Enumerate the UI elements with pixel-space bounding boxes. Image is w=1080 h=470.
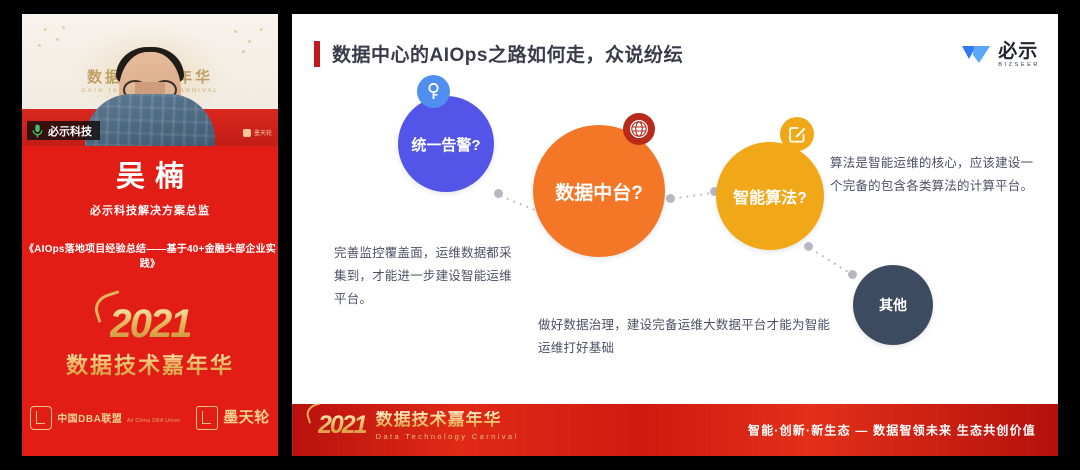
event-bottom-banner: 2021 数据技术嘉年华 Data Technology Carnival 智能… [292,404,1058,456]
confetti-dot [62,26,65,29]
partner-name-cn: 中国DBA联盟 [57,414,122,425]
node-label: 统一告警? [411,134,480,155]
confetti-dot [44,28,47,31]
connector-dot [848,270,857,279]
partner-name-en: All China DBA Union [127,418,180,424]
event-year-logo: 2021 [110,304,191,344]
watermark-badge-icon [243,129,251,137]
globe-icon [628,118,650,140]
confetti-dot [38,44,41,47]
partner-name-cn: 墨天轮 [223,409,270,426]
confetti-dot [56,38,59,41]
confetti-dot [248,40,251,43]
watermark-label: 墨天轮 [254,128,272,137]
connector-dot [804,242,813,251]
caption-data-platform: 做好数据治理，建设完备运维大数据平台才能为智能运维打好基础 [538,314,838,360]
caption-unified-alert: 完善监控覆盖面，运维数据都采集到，才能进一步建设智能运维平台。 [334,242,524,311]
slide-title: 数据中心的AIOps之路如何走，众说纷纭 [332,40,683,67]
event-name: 数据技术嘉年华 [22,348,278,380]
brand-name-en: BIZSEER [998,63,1040,69]
banner-year-logo: 2021 [318,411,366,440]
key-icon-badge [417,75,450,108]
speaker-name: 吴楠 [22,162,278,194]
talk-title: 《AIOps落地项目经验总结——基于40+金融头部企业实践》 [22,240,278,270]
connector-algo-other [807,246,854,276]
edit-square-icon [787,124,807,144]
banner-event-name-en: Data Technology Carnival [376,432,519,441]
node-label: 智能算法? [733,184,807,208]
screen: 数据技术嘉年华 DATA TECHNOLOGY CARNIVAL [0,0,1080,470]
speaker-panel: 数据技术嘉年华 DATA TECHNOLOGY CARNIVAL [22,14,278,456]
video-feed[interactable]: 数据技术嘉年华 DATA TECHNOLOGY CARNIVAL [22,14,278,146]
presentation-slide: 数据中心的AIOps之路如何走，众说纷纭 必示 BIZSEER [292,14,1058,456]
bizseer-checkmark-icon [961,43,991,67]
speaker-title: 必示科技解决方案总监 [22,202,278,218]
banner-slogan: 智能·创新·新生态 — 数据智领未来 生态共创价值 [748,422,1036,439]
node-other[interactable]: 其他 [853,265,933,345]
node-intelligent-algorithm[interactable]: 智能算法? [716,142,824,250]
partner-logo-modb: 墨天轮 [196,406,270,430]
speaker-info: 吴楠 必示科技解决方案总监 《AIOps落地项目经验总结——基于40+金融头部企… [22,146,278,270]
video-watermark: 墨天轮 [243,128,272,137]
connector-dot [666,194,675,203]
partner-logos: 中国DBA联盟 All China DBA Union 墨天轮 [22,406,278,430]
mic-tag-label: 必示科技 [48,123,92,139]
connector-dot [494,189,503,198]
node-data-platform[interactable]: 数据中台? [533,125,665,257]
banner-event-name-cn: 数据技术嘉年华 [376,411,519,430]
dba-union-mark-icon [30,406,52,430]
slide-header: 数据中心的AIOps之路如何走，众说纷纭 [314,40,683,67]
node-label: 数据中台? [555,178,643,205]
brand-name-cn: 必示 [998,42,1040,61]
connector-platform-algo [670,192,714,200]
speaker-body [85,94,215,146]
microphone-icon [32,124,43,138]
mic-name-tag[interactable]: 必示科技 [27,121,100,140]
confetti-dot [242,50,245,53]
globe-icon-badge [623,113,655,145]
confetti-dot [260,28,263,31]
key-icon [426,83,441,100]
confetti-dot [234,30,237,33]
modb-mark-icon [196,406,218,430]
node-unified-alert[interactable]: 统一告警? [398,96,494,192]
aiops-path-diagram: 统一告警? 数据中台? 智 [292,74,1058,404]
partner-logo-dba-union: 中国DBA联盟 All China DBA Union [30,406,180,430]
brand-logo: 必示 BIZSEER [961,42,1040,69]
caption-intelligent-algorithm: 算法是智能运维的核心，应该建设一个完备的包含各类算法的计算平台。 [830,152,1040,198]
edit-square-icon-badge [780,117,814,151]
banner-logo: 2021 数据技术嘉年华 Data Technology Carnival [318,411,519,441]
event-logo: 2021 数据技术嘉年华 中国DBA联盟 All China DBA Union… [22,304,278,430]
title-accent-bar [314,41,320,67]
node-label: 其他 [879,295,907,315]
